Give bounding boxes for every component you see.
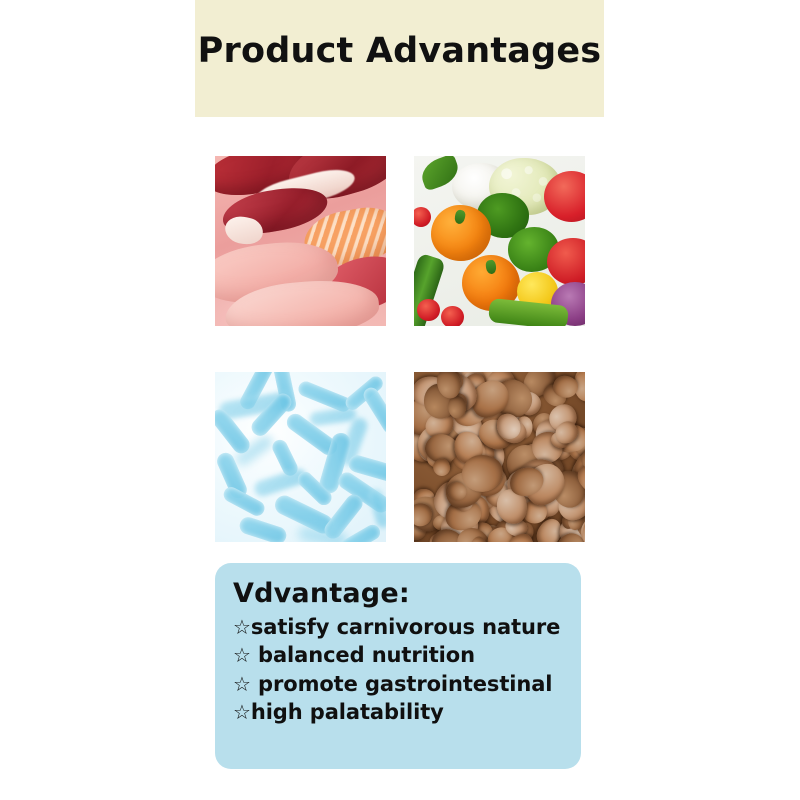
bacteria-field	[215, 372, 386, 542]
advantage-item-label: satisfy carnivorous nature	[251, 615, 560, 639]
cherry-tomato-shape	[417, 299, 439, 321]
kibble-piece-shape	[553, 376, 579, 399]
fresh-vegetables-photo	[414, 156, 585, 326]
title-banner: Product Advantages	[195, 0, 604, 117]
star-icon: ☆	[233, 643, 251, 667]
kibble-photo	[414, 372, 585, 542]
page-title: Product Advantages	[198, 31, 602, 71]
advantage-item: ☆ promote gastrointestinal	[233, 670, 563, 699]
advantage-item-label: high palatability	[251, 700, 444, 724]
probiotics-photo	[215, 372, 386, 542]
tomato-shape	[544, 171, 585, 222]
star-icon: ☆	[233, 700, 251, 724]
advantage-panel: Vdvantage: ☆satisfy carnivorous nature ☆…	[215, 563, 581, 769]
star-icon: ☆	[233, 672, 251, 696]
advantage-item: ☆ balanced nutrition	[233, 641, 563, 670]
advantage-list: ☆satisfy carnivorous nature ☆ balanced n…	[233, 613, 563, 727]
advantage-heading: Vdvantage:	[233, 577, 563, 611]
kibble-field	[414, 372, 585, 542]
cherry-tomato-shape	[414, 207, 431, 227]
bacteria-rod-shape	[237, 515, 288, 542]
advantage-item: ☆high palatability	[233, 698, 563, 727]
bacteria-rod-shape	[366, 487, 386, 531]
advantage-item-label: promote gastrointestinal	[251, 672, 553, 696]
raw-meat-photo	[215, 156, 386, 326]
advantage-item: ☆satisfy carnivorous nature	[233, 613, 563, 642]
advantage-item-label: balanced nutrition	[251, 643, 475, 667]
product-image-grid	[215, 156, 585, 542]
star-icon: ☆	[233, 615, 251, 639]
cherry-tomato-shape	[441, 306, 463, 326]
